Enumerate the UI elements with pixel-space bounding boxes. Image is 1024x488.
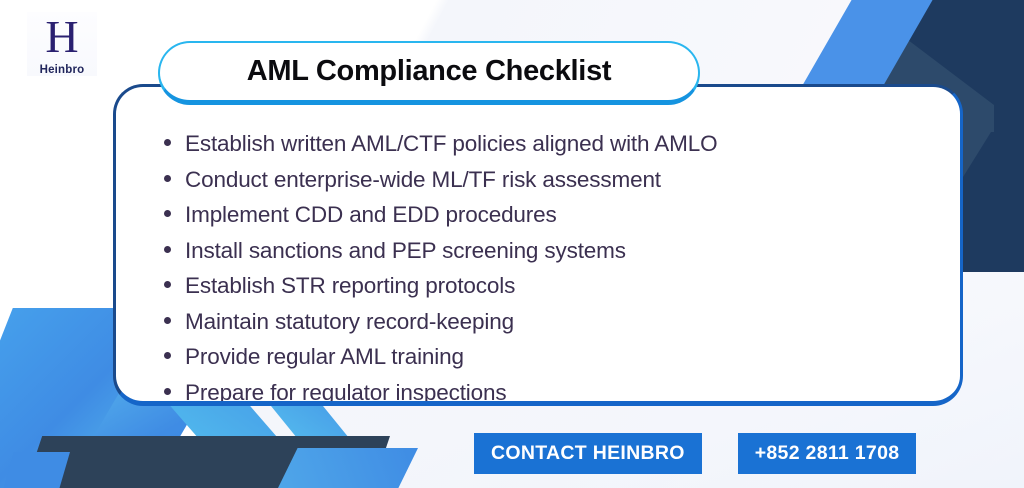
bullet-dot-icon [164,281,171,288]
list-item-label: Install sanctions and PEP screening syst… [185,236,626,266]
cta-row: CONTACT HEINBRO +852 2811 1708 [474,433,916,474]
poster-canvas: H Heinbro Establish written AML/CTF poli… [0,0,1024,488]
list-item: Install sanctions and PEP screening syst… [164,236,717,266]
list-item: Conduct enterprise-wide ML/TF risk asses… [164,165,717,195]
list-item: Maintain statutory record-keeping [164,307,717,337]
list-item-label: Establish written AML/CTF policies align… [185,129,717,159]
checklist-list: Establish written AML/CTF policies align… [164,129,717,401]
list-item: Provide regular AML training [164,342,717,372]
list-item: Establish STR reporting protocols [164,271,717,301]
list-item-label: Provide regular AML training [185,342,464,372]
bullet-dot-icon [164,175,171,182]
decor-bottom-band-tail [278,448,418,488]
list-item: Implement CDD and EDD procedures [164,200,717,230]
list-item: Prepare for regulator inspections [164,378,717,402]
bullet-dot-icon [164,388,171,395]
logo-wordmark: Heinbro [27,64,97,76]
list-item-label: Conduct enterprise-wide ML/TF risk asses… [185,165,661,195]
bullet-dot-icon [164,352,171,359]
phone-number-button[interactable]: +852 2811 1708 [738,433,917,474]
checklist-card: Establish written AML/CTF policies align… [113,84,963,406]
list-item-label: Maintain statutory record-keeping [185,307,514,337]
bullet-dot-icon [164,317,171,324]
page-title: AML Compliance Checklist [247,55,612,88]
brand-logo: H Heinbro [27,12,97,76]
logo-monogram-icon: H [27,12,97,62]
bullet-dot-icon [164,139,171,146]
bullet-dot-icon [164,210,171,217]
list-item: Establish written AML/CTF policies align… [164,129,717,159]
checklist-card-inner: Establish written AML/CTF policies align… [116,87,960,401]
list-item-label: Implement CDD and EDD procedures [185,200,557,230]
list-item-label: Prepare for regulator inspections [185,378,506,402]
bullet-dot-icon [164,246,171,253]
page-title-pill: AML Compliance Checklist [158,41,700,105]
contact-heinbro-button[interactable]: CONTACT HEINBRO [474,433,702,474]
list-item-label: Establish STR reporting protocols [185,271,515,301]
